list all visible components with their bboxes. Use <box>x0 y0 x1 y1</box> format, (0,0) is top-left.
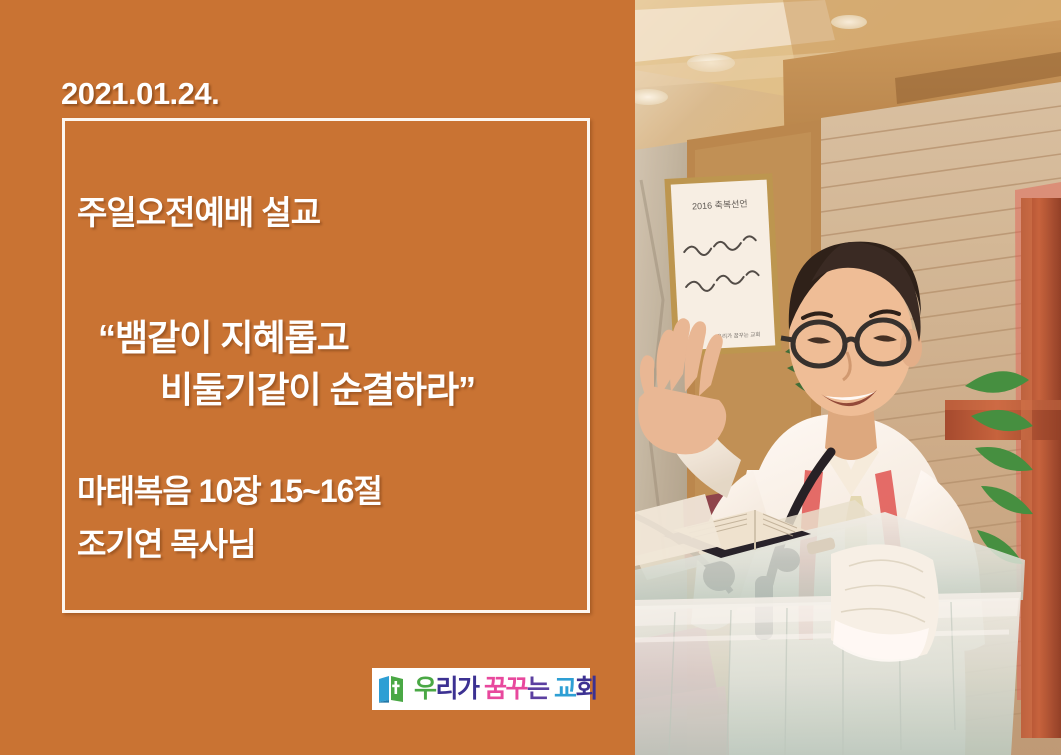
logo-word2-b: 는 <box>527 675 549 703</box>
sermon-title-line1: “뱀같이 지혜롭고 <box>98 317 349 358</box>
sermon-date: 2021.01.24. <box>61 76 219 112</box>
text-panel: 2021.01.24. 주일오전예배 설교 “뱀같이 지혜롭고 비둘기같이 순결… <box>0 0 635 755</box>
logo-word2-a: 꿈꾸 <box>484 675 527 703</box>
scripture-reference: 마태복음 10장 15~16절 <box>77 466 382 512</box>
logo-word1-b: 리가 <box>436 675 479 703</box>
sermon-title-line2: 비둘기같이 순결하라” <box>160 364 475 416</box>
service-label: 주일오전예배 설교 <box>77 186 320 234</box>
church-logo-text: 우리가 꿈꾸는 교회 <box>414 675 597 703</box>
logo-word3-b: 회 <box>575 675 597 703</box>
pastor-photo-image: 2016 축복선언 우리가 꿈꾸는 교회 <box>635 0 1061 755</box>
sermon-title-slide: 2021.01.24. 주일오전예배 설교 “뱀같이 지혜롭고 비둘기같이 순결… <box>0 0 1061 755</box>
logo-word3-a: 교 <box>554 675 576 703</box>
pastor-photo: 2016 축복선언 우리가 꿈꾸는 교회 <box>635 0 1061 755</box>
logo-word1-a: 우 <box>414 675 436 703</box>
sermon-title: “뱀같이 지혜롭고 비둘기같이 순결하라” <box>98 312 475 416</box>
open-door-cross-icon <box>377 675 407 703</box>
church-logo: 우리가 꿈꾸는 교회 <box>372 668 590 710</box>
preacher-name: 조기연 목사님 <box>77 519 256 565</box>
